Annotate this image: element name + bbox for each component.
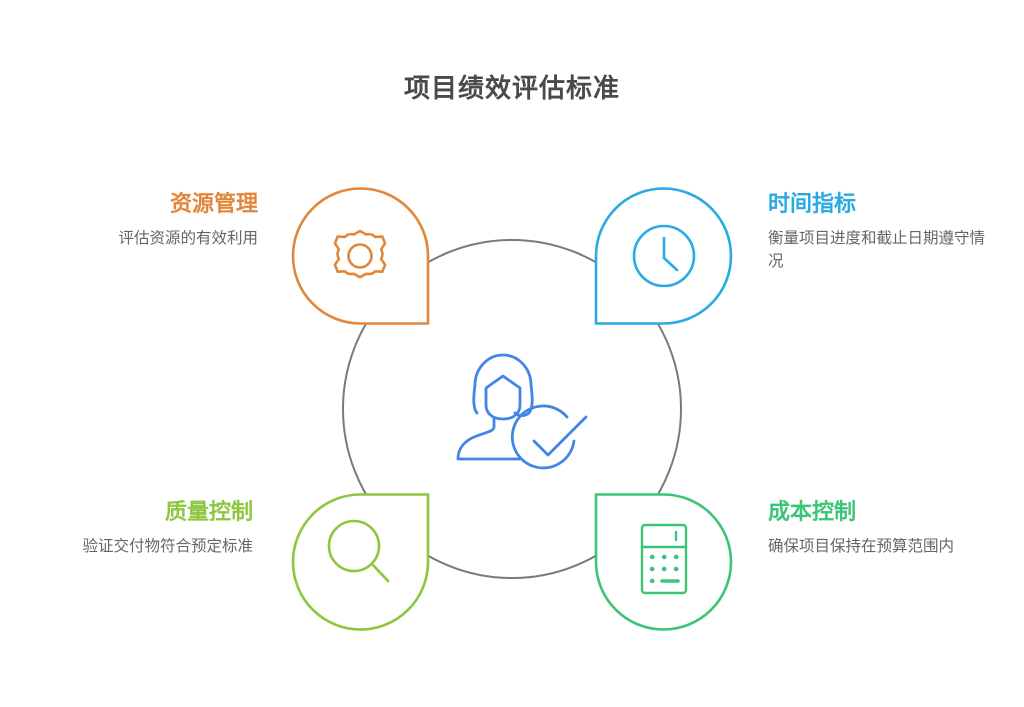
quality-teardrop [293,495,428,630]
time-heading: 时间指标 [768,190,988,218]
person-with-checkmark-icon [458,355,586,468]
cost-description: 确保项目保持在预算范围内 [768,535,988,558]
cost-heading: 成本控制 [768,498,988,526]
quality-heading: 质量控制 [33,498,253,526]
label-quality: 质量控制 验证交付物符合预定标准 [33,498,253,558]
node-quality[interactable] [293,495,428,630]
label-resource: 资源管理 评估资源的有效利用 [38,190,258,250]
resource-heading: 资源管理 [38,190,258,218]
quality-description: 验证交付物符合预定标准 [33,535,253,558]
cost-teardrop [596,495,731,630]
resource-description: 评估资源的有效利用 [38,227,258,250]
label-cost: 成本控制 确保项目保持在预算范围内 [768,498,988,558]
node-time[interactable] [596,189,731,324]
infographic-canvas: 项目绩效评估标准 [0,0,1024,707]
node-resource[interactable] [293,189,428,324]
resource-teardrop [293,189,428,324]
node-cost[interactable] [596,495,731,630]
diagram-graphic [0,0,1024,707]
label-time: 时间指标 衡量项目进度和截止日期遵守情况 [768,190,988,273]
time-description: 衡量项目进度和截止日期遵守情况 [768,227,988,274]
